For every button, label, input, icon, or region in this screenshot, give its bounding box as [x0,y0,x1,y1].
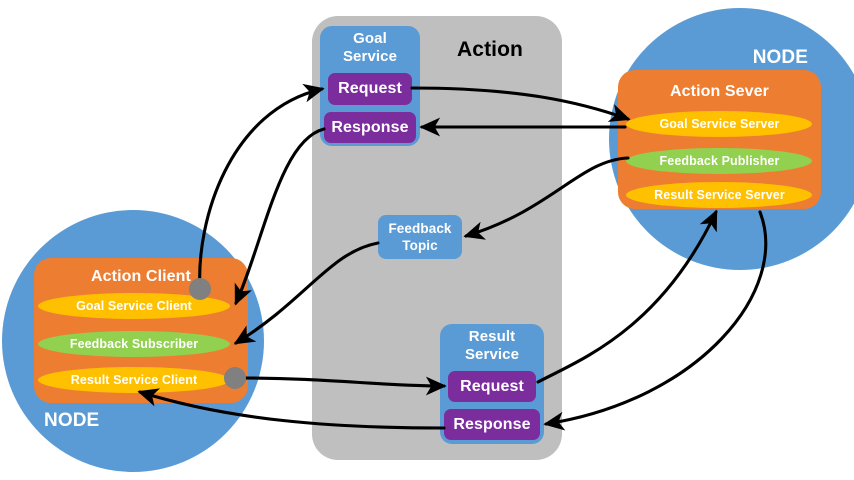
feedback-topic-box [378,215,462,259]
client-result-connector-dot [224,367,246,389]
client-goal-connector-dot [189,278,211,300]
client-pill-feedback-subscriber [38,331,230,357]
diagram-canvas: Action Goal Service Request Response Res… [0,0,854,480]
goal-service-request-box [328,73,412,105]
result-service-request-box [448,371,536,402]
arrow-goal-response-to-client-goal [236,129,324,303]
diagram-svg [0,0,854,480]
server-pill-feedback-publisher [626,148,812,174]
result-service-response-box [444,409,540,440]
server-pill-result-service-server [626,182,812,208]
client-pill-result-service-client [38,367,230,393]
goal-service-response-box [324,112,416,143]
server-pill-goal-service-server [626,111,812,137]
